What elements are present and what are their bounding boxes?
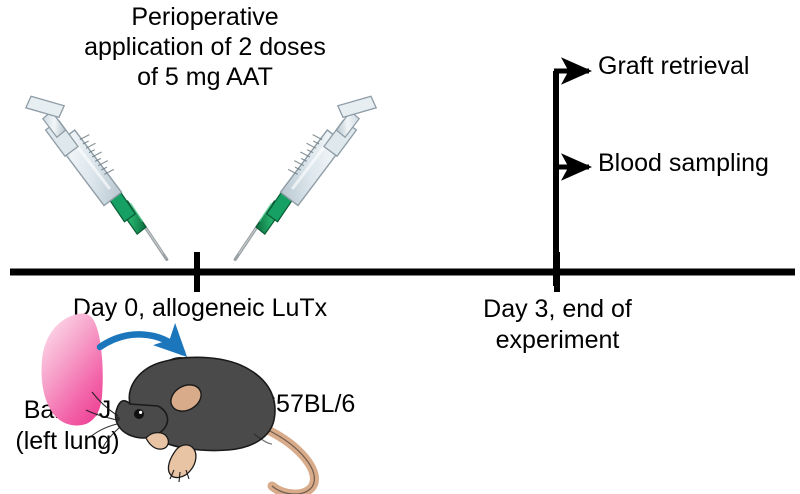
figure-canvas: Perioperativeapplication of 2 dosesof 5 … xyxy=(0,0,800,494)
transplant-arrow xyxy=(100,334,182,352)
syringe-right-icon xyxy=(220,96,391,259)
recipient-mouse-icon xyxy=(86,353,314,494)
donor-lung-icon xyxy=(41,314,102,426)
syringe-left-icon xyxy=(12,96,183,259)
figure-graphics xyxy=(0,0,800,494)
